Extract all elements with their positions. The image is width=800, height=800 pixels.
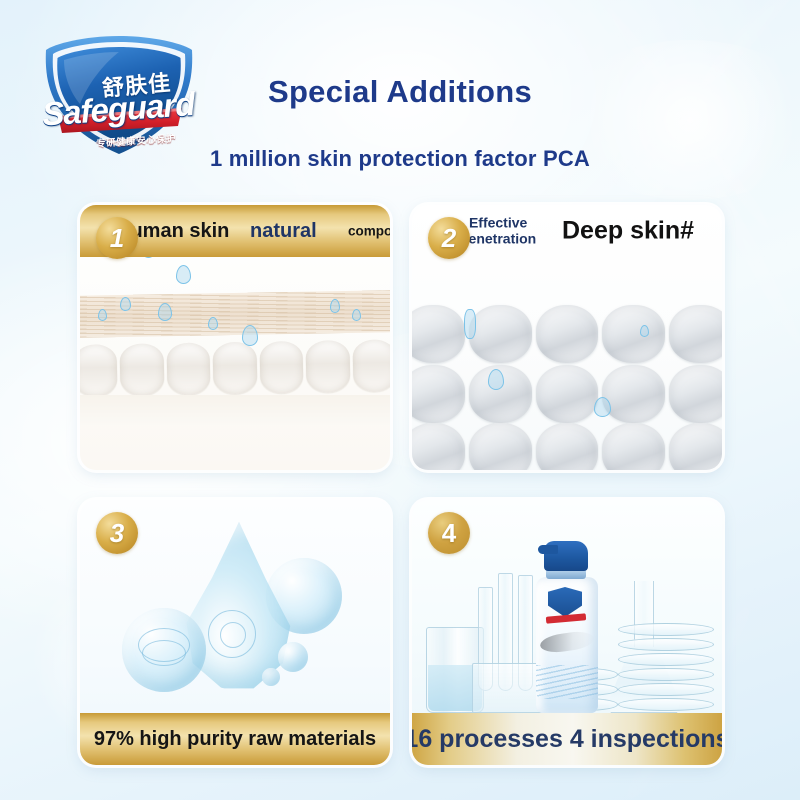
- page-title: Special Additions: [0, 74, 800, 110]
- feature-card-1[interactable]: 1 Human skin natural component: [80, 205, 390, 470]
- card-caption-line2: penetration: [460, 231, 536, 247]
- feature-card-3[interactable]: 3 97% high purity raw materials: [80, 500, 390, 765]
- card-number-badge: 3: [96, 512, 138, 554]
- card-caption-line1: Effective: [460, 215, 536, 231]
- card-caption-stack: Effective penetration: [460, 215, 536, 246]
- card-caption: 97% high purity raw materials: [94, 729, 376, 749]
- card-number-badge: 4: [428, 512, 470, 554]
- card-caption-band: 16 processes 4 inspections: [412, 713, 722, 765]
- feature-card-2[interactable]: 2 Effective penetration Deep skin#: [412, 205, 722, 470]
- card-caption-part: natural: [250, 221, 317, 241]
- product-bottle: [536, 541, 598, 713]
- card-caption: 16 processes 4 inspections: [412, 727, 722, 752]
- feature-card-grid: 1 Human skin natural component 2 Effecti…: [80, 205, 722, 765]
- feature-card-4[interactable]: 4 16 processes 4 inspections: [412, 500, 722, 765]
- card-caption-band: 97% high purity raw materials: [80, 713, 390, 765]
- card-caption-emphasis: Deep skin#: [562, 217, 694, 246]
- card-number-badge: 1: [96, 217, 138, 259]
- page-subtitle: 1 million skin protection factor PCA: [0, 146, 800, 172]
- card-number-badge: 2: [428, 217, 470, 259]
- card-caption-part: component: [348, 224, 390, 238]
